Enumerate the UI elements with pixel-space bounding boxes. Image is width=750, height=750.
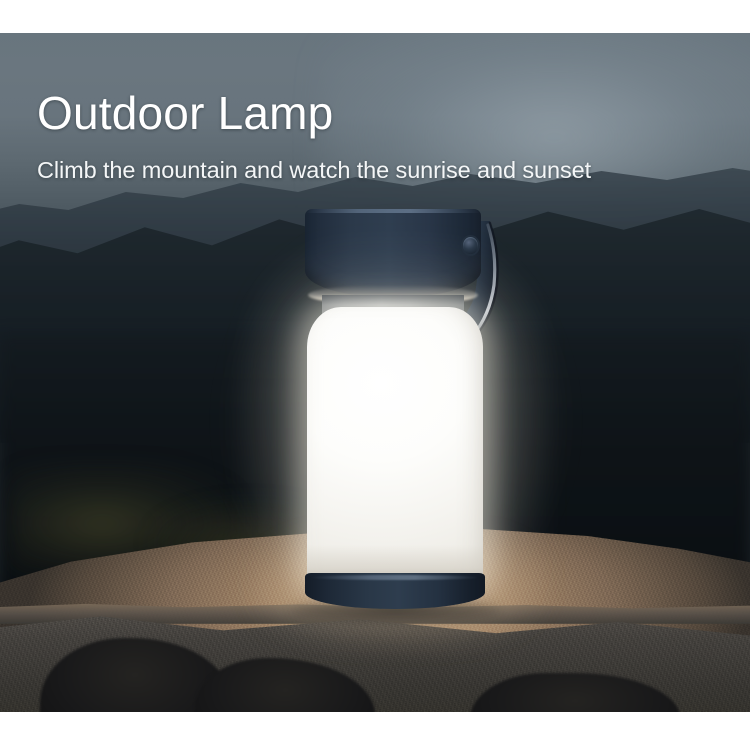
lamp-cap: [305, 209, 481, 297]
letterbox-top: [0, 0, 750, 33]
collar-shadow: [322, 295, 464, 305]
scene-photo: Outdoor Lamp Climb the mountain and watc…: [0, 33, 750, 712]
page-subtitle: Climb the mountain and watch the sunrise…: [37, 159, 591, 183]
letterbox-bottom: [0, 712, 750, 750]
glowing-diffuser: [307, 307, 483, 581]
base-top-highlight: [310, 575, 480, 580]
page-title: Outdoor Lamp: [37, 90, 333, 136]
handle-pivot-screw: [463, 237, 478, 254]
product-banner: Outdoor Lamp Climb the mountain and watc…: [0, 0, 750, 750]
cap-top-highlight: [305, 209, 481, 213]
